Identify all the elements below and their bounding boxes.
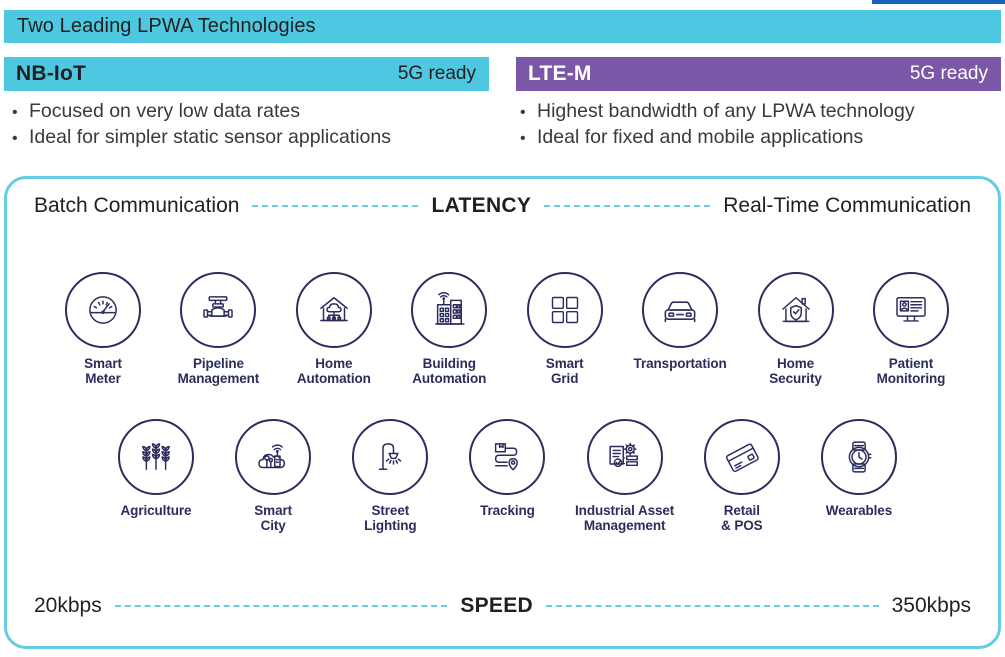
bullet-marker-icon: •: [12, 126, 29, 151]
feature-list-nb-iot: •Focused on very low data rates•Ideal fo…: [12, 99, 502, 151]
feature-list-item-label: Ideal for fixed and mobile applications: [537, 125, 863, 150]
street-lamp-icon: [352, 419, 428, 495]
use-case-item[interactable]: Wearables: [803, 419, 915, 533]
use-case-label: Patient Monitoring: [877, 357, 946, 386]
use-case-panel: Batch Communication LATENCY Real-Time Co…: [4, 176, 1001, 649]
speed-axis-dash-right: [546, 605, 879, 607]
use-case-label: Agriculture: [121, 504, 192, 519]
use-case-item[interactable]: Industrial Asset Management: [569, 419, 681, 533]
pipeline-valve-icon: [180, 272, 256, 348]
speed-axis-dash-left: [115, 605, 448, 607]
car-icon: [642, 272, 718, 348]
speed-axis-title: SPEED: [460, 594, 533, 618]
use-case-label: Smart Grid: [546, 357, 584, 386]
bullet-marker-icon: •: [520, 126, 537, 151]
use-case-item[interactable]: Building Automation: [393, 272, 505, 386]
use-case-row-1: Smart MeterPipeline ManagementHome Autom…: [47, 272, 967, 386]
technology-header-nb-iot: NB-IoT 5G ready: [4, 57, 489, 91]
house-shield-icon: [758, 272, 834, 348]
latency-axis-right-label: Real-Time Communication: [723, 194, 971, 218]
technology-name-nb-iot: NB-IoT: [16, 62, 86, 86]
use-case-label: Retail & POS: [721, 504, 763, 533]
use-case-label: Smart City: [254, 504, 292, 533]
house-network-icon: [296, 272, 372, 348]
latency-axis-dash-right: [544, 205, 710, 207]
use-case-label: Building Automation: [412, 357, 486, 386]
use-case-label: Transportation: [634, 357, 727, 372]
use-case-item[interactable]: Retail & POS: [686, 419, 798, 533]
use-case-label: Home Automation: [297, 357, 371, 386]
lpwa-technologies-infographic: Two Leading LPWA Technologies NB-IoT 5G …: [0, 0, 1005, 657]
latency-axis: Batch Communication LATENCY Real-Time Co…: [7, 194, 998, 218]
use-case-label: Street Lighting: [364, 504, 416, 533]
use-case-item[interactable]: Home Automation: [278, 272, 390, 386]
use-case-item[interactable]: Street Lighting: [334, 419, 446, 533]
use-case-item[interactable]: Tracking: [451, 419, 563, 533]
use-case-item[interactable]: Smart City: [217, 419, 329, 533]
wheat-icon: [118, 419, 194, 495]
use-case-item[interactable]: Agriculture: [100, 419, 212, 533]
use-case-label: Industrial Asset Management: [575, 504, 674, 533]
feature-list-item: •Highest bandwidth of any LPWA technolog…: [520, 99, 1005, 125]
use-case-label: Pipeline Management: [178, 357, 260, 386]
package-route-icon: [469, 419, 545, 495]
feature-list-item: •Focused on very low data rates: [12, 99, 502, 125]
page-title-bar: Two Leading LPWA Technologies: [4, 10, 1001, 43]
top-accent-rule: [872, 0, 1005, 4]
cloud-city-icon: [235, 419, 311, 495]
use-case-label: Smart Meter: [84, 357, 122, 386]
speed-axis-left-label: 20kbps: [34, 594, 102, 618]
technology-name-lte-m: LTE-M: [528, 62, 592, 86]
use-case-label: Home Security: [769, 357, 821, 386]
technology-header-lte-m: LTE-M 5G ready: [516, 57, 1001, 91]
use-case-item[interactable]: Smart Meter: [47, 272, 159, 386]
use-case-item[interactable]: Home Security: [740, 272, 852, 386]
gauge-icon: [65, 272, 141, 348]
feature-list-item-label: Focused on very low data rates: [29, 99, 300, 124]
bullet-marker-icon: •: [520, 100, 537, 125]
use-case-item[interactable]: Pipeline Management: [162, 272, 274, 386]
use-case-item[interactable]: Patient Monitoring: [855, 272, 967, 386]
asset-gear-icon: [587, 419, 663, 495]
building-wifi-icon: [411, 272, 487, 348]
use-case-label: Wearables: [826, 504, 892, 519]
speed-axis-right-label: 350kbps: [892, 594, 971, 618]
latency-axis-left-label: Batch Communication: [34, 194, 239, 218]
use-case-item[interactable]: Transportation: [624, 272, 736, 386]
use-case-row-2: AgricultureSmart CityStreet LightingTrac…: [100, 419, 915, 533]
latency-axis-dash-left: [252, 205, 418, 207]
patient-monitor-icon: [873, 272, 949, 348]
use-case-label: Tracking: [480, 504, 535, 519]
speed-axis: 20kbps SPEED 350kbps: [7, 594, 998, 618]
feature-list-item-label: Highest bandwidth of any LPWA technology: [537, 99, 915, 124]
bullet-marker-icon: •: [12, 100, 29, 125]
feature-list-item: •Ideal for fixed and mobile applications: [520, 125, 1005, 151]
feature-list-item: •Ideal for simpler static sensor applica…: [12, 125, 502, 151]
credit-card-icon: [704, 419, 780, 495]
feature-list-lte-m: •Highest bandwidth of any LPWA technolog…: [520, 99, 1005, 151]
use-case-item[interactable]: Smart Grid: [509, 272, 621, 386]
feature-list-item-label: Ideal for simpler static sensor applicat…: [29, 125, 391, 150]
page-title: Two Leading LPWA Technologies: [4, 15, 316, 38]
latency-axis-title: LATENCY: [431, 194, 531, 218]
grid-squares-icon: [527, 272, 603, 348]
badge-5g-ready-lte-m: 5G ready: [910, 63, 988, 85]
watch-icon: [821, 419, 897, 495]
badge-5g-ready-nb-iot: 5G ready: [398, 63, 476, 85]
